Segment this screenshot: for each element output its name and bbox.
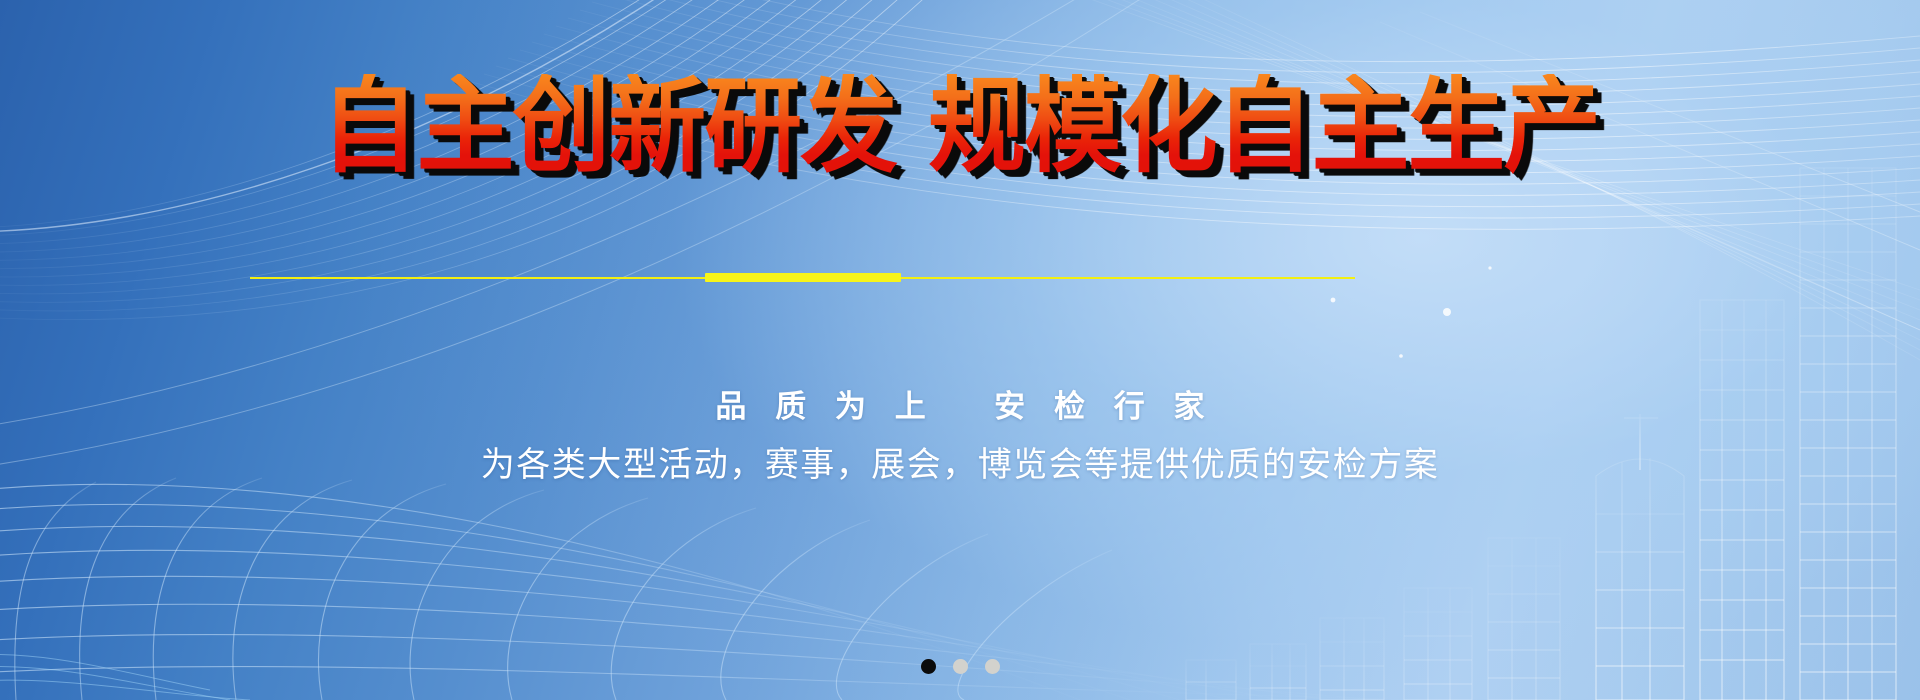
divider <box>250 276 1355 279</box>
banner-content: 自主创新研发 规模化自主生产 品 质 为 上 安 检 行 家 为各类大型活动，赛… <box>0 0 1920 700</box>
divider-accent <box>705 273 901 282</box>
carousel-dot-2[interactable] <box>953 659 968 674</box>
description: 为各类大型活动，赛事，展会，博览会等提供优质的安检方案 <box>0 437 1920 486</box>
tagline: 品 质 为 上 安 检 行 家 <box>0 381 1920 426</box>
carousel-indicators[interactable] <box>0 659 1920 674</box>
hero-banner: 自主创新研发 规模化自主生产 品 质 为 上 安 检 行 家 为各类大型活动，赛… <box>0 0 1920 700</box>
page-title: 自主创新研发 规模化自主生产 <box>58 74 1863 178</box>
carousel-dot-3[interactable] <box>985 659 1000 674</box>
carousel-dot-1[interactable] <box>921 659 936 674</box>
